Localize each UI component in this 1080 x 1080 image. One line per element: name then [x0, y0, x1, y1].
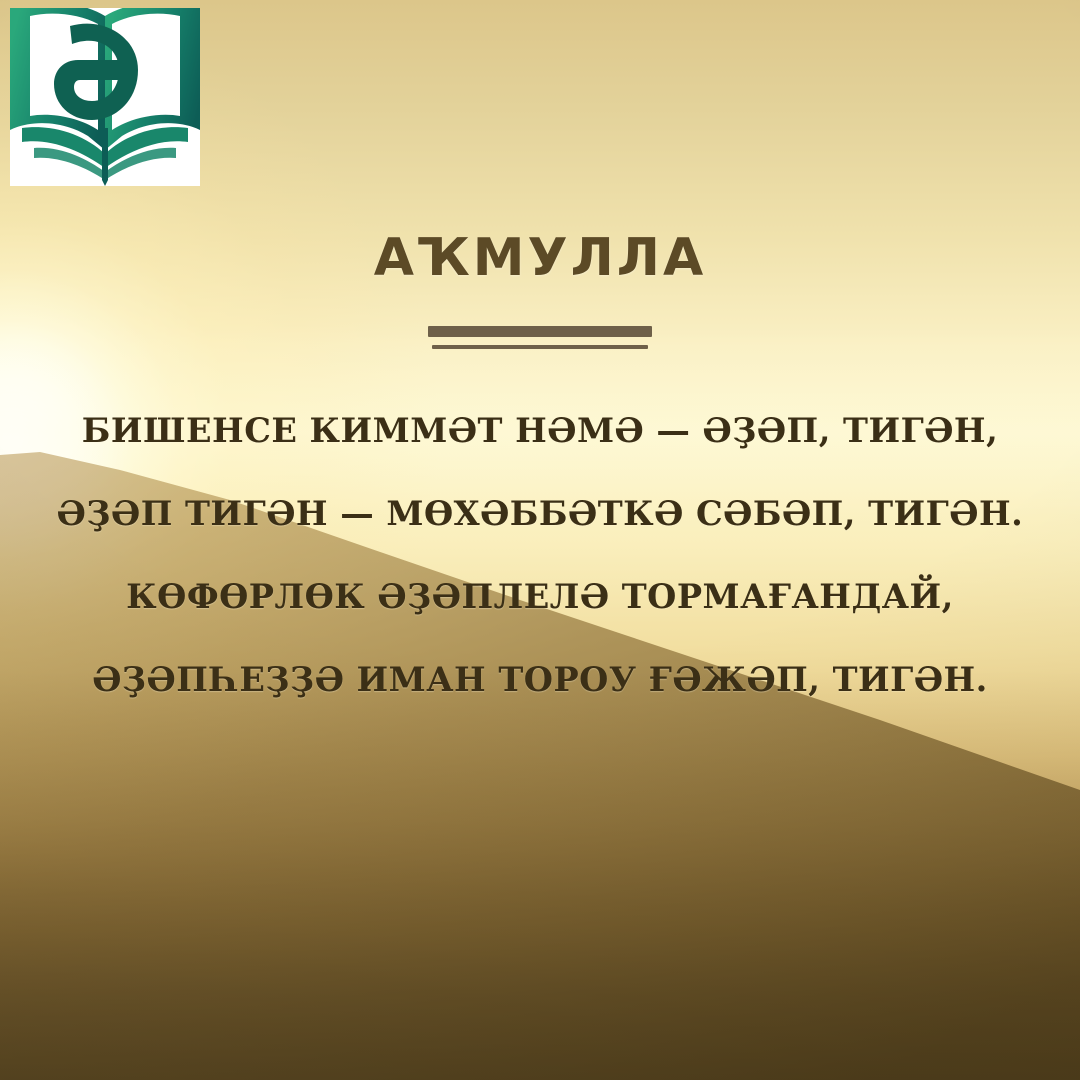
verse-line-3: КӨФӨРЛӨК ӘҘӘПЛЕЛӘ ТОРМАҒАНДАЙ,: [0, 555, 1080, 638]
poster-canvas: АҠМУЛЛА БИШЕНСЕ КИММӘТ НӘМӘ — ӘҘӘП, ТИГӘ…: [0, 0, 1080, 1080]
title-divider: [428, 326, 652, 349]
divider-bar-thick: [428, 326, 652, 337]
verse-block: БИШЕНСЕ КИММӘТ НӘМӘ — ӘҘӘП, ТИГӘН, ӘҘӘП …: [0, 349, 1080, 721]
page-title: АҠМУЛЛА: [0, 0, 1080, 288]
poster-content: АҠМУЛЛА БИШЕНСЕ КИММӘТ НӘМӘ — ӘҘӘП, ТИГӘ…: [0, 0, 1080, 721]
verse-line-1: БИШЕНСЕ КИММӘТ НӘМӘ — ӘҘӘП, ТИГӘН,: [0, 389, 1080, 472]
verse-line-2: ӘҘӘП ТИГӘН — МӨХӘББӘТКӘ СӘБӘП, ТИГӘН.: [0, 472, 1080, 555]
verse-line-4: ӘҘӘПҺЕҘҘӘ ИМАН ТОРОУ ҒӘЖӘП, ТИГӘН.: [0, 638, 1080, 721]
